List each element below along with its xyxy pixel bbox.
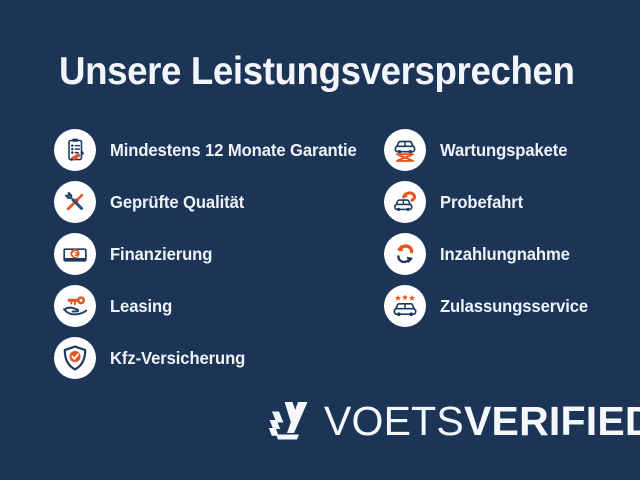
voets-verified-logo: VOETSVERIFIED	[268, 398, 640, 444]
wrench-screwdriver-icon	[54, 181, 96, 223]
benefit-item-probefahrt: Probefahrt	[384, 176, 596, 228]
car-lift-icon	[384, 129, 426, 171]
benefits-column-left: Mindestens 12 Monate Garantie	[54, 124, 370, 384]
benefit-item-leasing: Leasing	[54, 280, 370, 332]
svg-text:€: €	[71, 249, 78, 259]
benefit-item-garantie: Mindestens 12 Monate Garantie	[54, 124, 370, 176]
benefit-label: Probefahrt	[440, 192, 523, 213]
logo-wordmark: VOETSVERIFIED	[324, 401, 640, 442]
banknote-euro-icon: €	[54, 233, 96, 275]
benefit-item-wartungspakete: Wartungspakete	[384, 124, 596, 176]
page-title: Unsere Leistungsversprechen	[59, 50, 575, 94]
benefit-label: Geprüfte Qualität	[110, 192, 244, 213]
benefits-column-right: Wartungspakete Probefahrt	[384, 124, 596, 332]
benefit-item-qualitaet: Geprüfte Qualität	[54, 176, 370, 228]
benefit-label: Kfz-Versicherung	[110, 348, 245, 369]
benefit-label: Finanzierung	[110, 244, 212, 265]
benefit-label: Leasing	[110, 296, 172, 317]
car-stars-icon	[384, 285, 426, 327]
benefit-label: Mindestens 12 Monate Garantie	[110, 140, 357, 161]
car-arrow-icon	[384, 181, 426, 223]
benefit-label: Inzahlungnahme	[440, 244, 570, 265]
benefit-item-finanzierung: € Finanzierung	[54, 228, 370, 280]
benefit-item-zulassungsservice: Zulassungsservice	[384, 280, 596, 332]
hand-key-icon	[54, 285, 96, 327]
benefit-item-versicherung: Kfz-Versicherung	[54, 332, 370, 384]
logo-text-verified: VERIFIED	[464, 398, 640, 444]
benefit-label: Zulassungsservice	[440, 296, 588, 317]
voets-checkmark-icon	[268, 398, 312, 444]
clipboard-pen-icon	[54, 129, 96, 171]
logo-text-voets: VOETS	[324, 398, 464, 444]
promo-banner: Unsere Leistungsversprechen	[0, 0, 640, 480]
benefit-item-inzahlungnahme: Inzahlungnahme	[384, 228, 596, 280]
shield-check-icon	[54, 337, 96, 379]
benefit-label: Wartungspakete	[440, 140, 567, 161]
exchange-arrows-icon	[384, 233, 426, 275]
